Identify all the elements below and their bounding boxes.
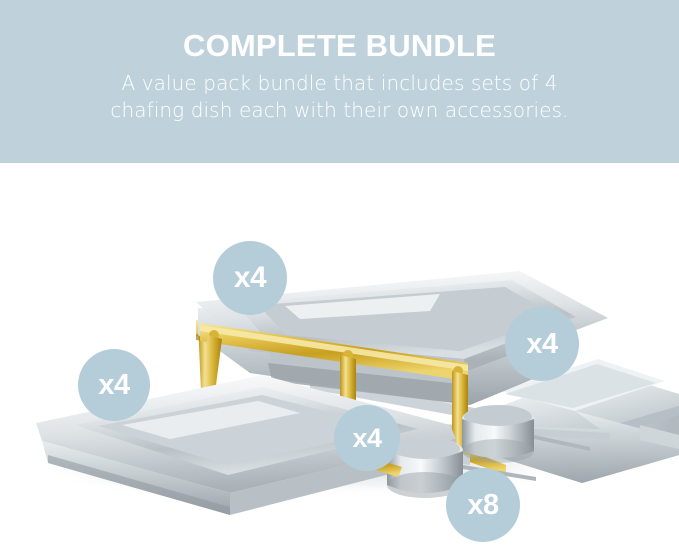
quantity-badge-label: x4 xyxy=(234,261,266,295)
quantity-badge-label: x4 xyxy=(352,423,381,454)
quantity-badge-lid-cover: x4 xyxy=(505,307,579,381)
quantity-badge-food-pan: x4 xyxy=(334,405,400,471)
quantity-badge-fuel-holder: x8 xyxy=(446,468,520,542)
page-subtitle: A value pack bundle that includes sets o… xyxy=(60,70,619,124)
product-infographic: COMPLETE BUNDLE A value pack bundle that… xyxy=(0,0,679,545)
quantity-badge-chafing-frame: x4 xyxy=(213,241,287,315)
quantity-badge-label: x4 xyxy=(98,369,129,402)
quantity-badge-water-pan: x4 xyxy=(78,349,150,421)
page-title: COMPLETE BUNDLE xyxy=(0,28,679,64)
quantity-badge-label: x4 xyxy=(526,328,557,361)
quantity-badge-label: x8 xyxy=(467,489,498,522)
header-band: COMPLETE BUNDLE A value pack bundle that… xyxy=(0,0,679,163)
